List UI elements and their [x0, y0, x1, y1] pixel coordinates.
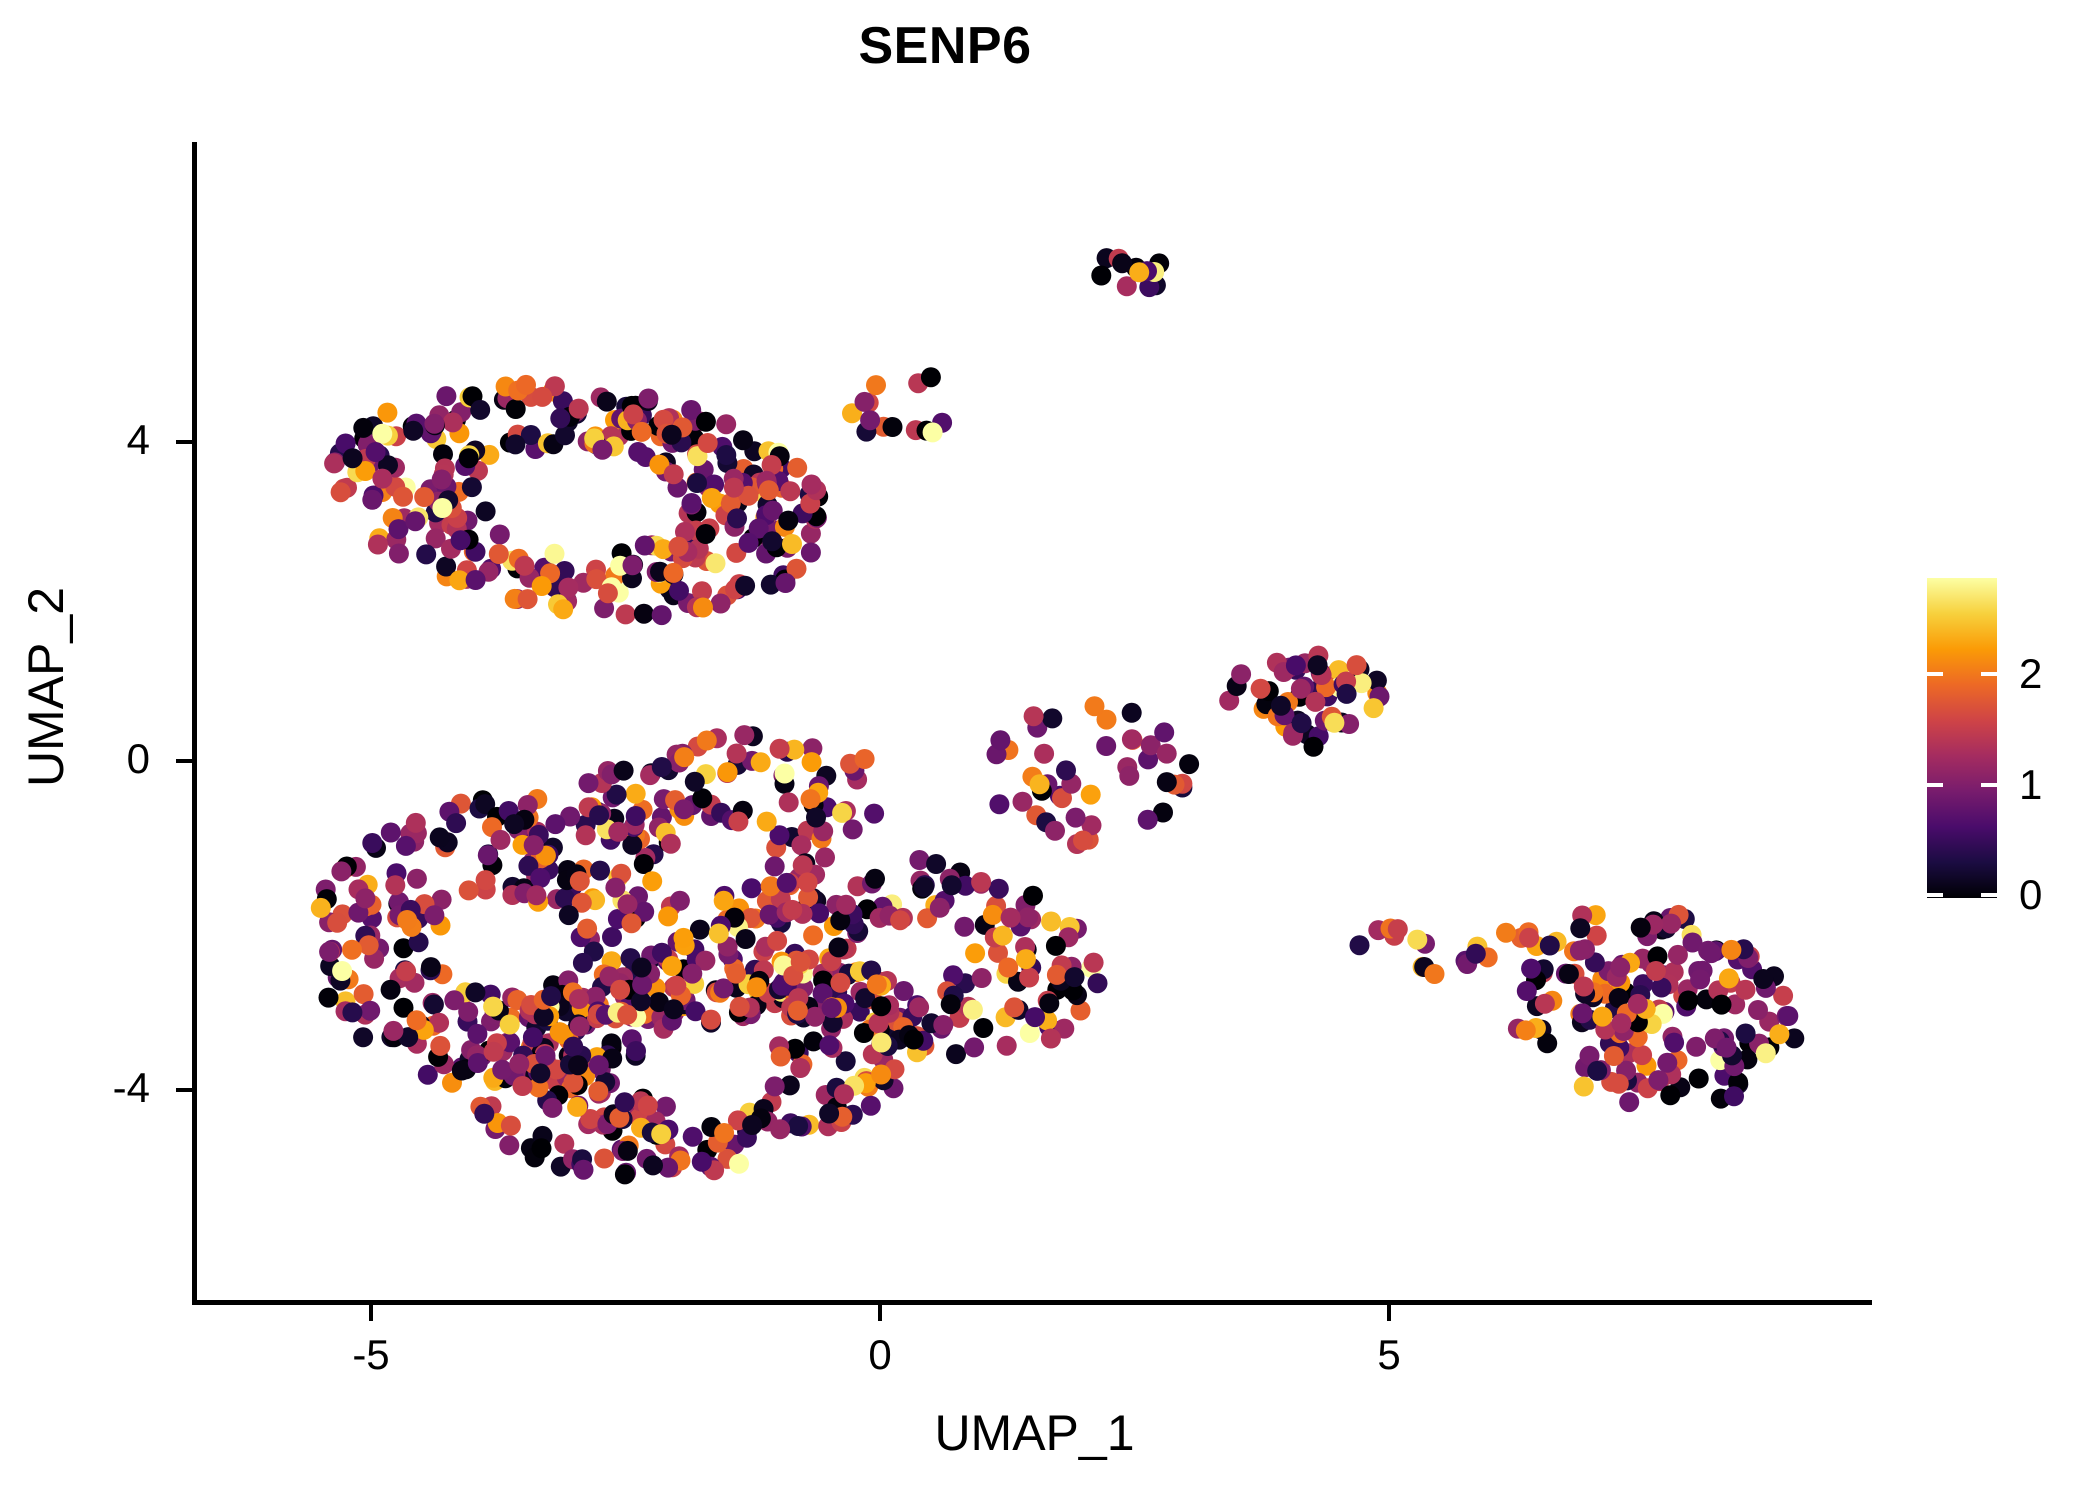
- scatter-points-layer: [197, 142, 1872, 1302]
- scatter-point: [414, 487, 434, 507]
- scatter-point: [767, 931, 787, 951]
- scatter-point: [424, 995, 444, 1015]
- scatter-point: [1091, 266, 1111, 286]
- scatter-point: [997, 1036, 1017, 1056]
- scatter-point: [730, 997, 750, 1017]
- scatter-point: [727, 744, 747, 764]
- scatter-point: [793, 855, 813, 875]
- scatter-point: [964, 1037, 984, 1057]
- scatter-point: [1587, 1061, 1607, 1081]
- scatter-point: [462, 477, 482, 497]
- scatter-point: [697, 731, 717, 751]
- scatter-point: [739, 533, 759, 553]
- scatter-point: [1701, 943, 1721, 963]
- scatter-point: [709, 924, 729, 944]
- colorbar-label-0: 0: [2019, 874, 2042, 916]
- scatter-point: [588, 1081, 608, 1101]
- scatter-point: [626, 806, 646, 826]
- x-tick-label-5: 5: [1309, 1334, 1469, 1376]
- scatter-point: [618, 1141, 638, 1161]
- scatter-point: [965, 943, 985, 963]
- scatter-point: [476, 870, 496, 890]
- scatter-point: [718, 762, 738, 782]
- scatter-point: [1657, 1053, 1677, 1073]
- x-axis-title: UMAP_1: [197, 1408, 1872, 1458]
- scatter-point: [1025, 1007, 1045, 1027]
- scatter-point: [983, 905, 1003, 925]
- scatter-point: [1574, 977, 1594, 997]
- plot-panel: [197, 142, 1872, 1302]
- scatter-point: [942, 875, 962, 895]
- scatter-point: [1570, 941, 1590, 961]
- scatter-point: [855, 749, 875, 769]
- colorbar-label-2: 2: [2019, 653, 2042, 695]
- scatter-point: [451, 530, 471, 550]
- scatter-point: [802, 752, 822, 772]
- scatter-point: [791, 835, 811, 855]
- scatter-point: [1736, 1024, 1756, 1044]
- scatter-point: [1719, 968, 1739, 988]
- scatter-point: [1112, 253, 1132, 273]
- scatter-point: [319, 988, 339, 1008]
- scatter-point: [505, 434, 525, 454]
- scatter-point: [843, 819, 863, 839]
- umap-feature-plot: SENP6 4 0 -4 -5 0 5 UMAP_1 UMAP_2 2 1 0: [0, 0, 2100, 1500]
- scatter-point: [470, 400, 490, 420]
- scatter-point: [1572, 1003, 1592, 1023]
- scatter-point: [775, 764, 795, 784]
- scatter-point: [734, 725, 754, 745]
- scatter-point: [635, 536, 655, 556]
- scatter-point: [788, 1116, 808, 1136]
- scatter-point: [1084, 953, 1104, 973]
- scatter-point: [770, 739, 790, 759]
- scatter-point: [658, 906, 678, 926]
- scatter-point: [383, 1021, 403, 1041]
- scatter-point: [465, 982, 485, 1002]
- scatter-point: [782, 534, 802, 554]
- scatter-point: [871, 1065, 891, 1085]
- scatter-point: [1717, 1038, 1737, 1058]
- scatter-point: [946, 1044, 966, 1064]
- colorbar-gradient: [1927, 578, 1997, 898]
- scatter-point: [1350, 935, 1370, 955]
- scatter-point: [1388, 919, 1408, 939]
- x-tick-label-0: 0: [800, 1334, 960, 1376]
- scatter-point: [1466, 944, 1486, 964]
- scatter-point: [634, 604, 654, 624]
- scatter-point: [998, 958, 1018, 978]
- scatter-point: [1736, 980, 1756, 1000]
- colorbar-label-1: 1: [2019, 764, 2042, 806]
- scatter-point: [696, 524, 716, 544]
- scatter-point: [779, 792, 799, 812]
- scatter-point: [616, 604, 636, 624]
- scatter-point: [716, 414, 736, 434]
- scatter-point: [474, 1104, 494, 1124]
- scatter-point: [829, 937, 849, 957]
- scatter-point: [778, 511, 798, 531]
- scatter-point: [1251, 679, 1271, 699]
- scatter-point: [698, 433, 718, 453]
- scatter-point: [311, 898, 331, 918]
- scatter-point: [867, 974, 887, 994]
- scatter-point: [1013, 792, 1033, 812]
- scatter-point: [615, 1164, 635, 1184]
- scatter-point: [926, 854, 946, 874]
- scatter-point: [1690, 969, 1710, 989]
- scatter-point: [362, 490, 382, 510]
- scatter-point: [368, 535, 388, 555]
- colorbar-tick-1-right: [1981, 783, 1997, 787]
- scatter-point: [524, 835, 544, 855]
- scatter-point: [687, 473, 707, 493]
- scatter-point: [1019, 968, 1039, 988]
- scatter-point: [377, 403, 397, 423]
- scatter-point: [643, 1155, 663, 1175]
- scatter-point: [735, 576, 755, 596]
- scatter-point: [500, 1015, 520, 1035]
- scatter-point: [742, 878, 762, 898]
- scatter-point: [459, 880, 479, 900]
- y-tick-mark-4: [176, 440, 192, 444]
- scatter-point: [623, 404, 643, 424]
- scatter-point: [327, 913, 347, 933]
- scatter-point: [674, 928, 694, 948]
- scatter-point: [509, 1054, 529, 1074]
- scatter-point: [1085, 696, 1105, 716]
- scatter-point: [381, 980, 401, 1000]
- scatter-point: [1748, 1000, 1768, 1020]
- y-axis-line: [192, 142, 197, 1305]
- scatter-point: [362, 833, 382, 853]
- scatter-point: [663, 563, 683, 583]
- scatter-point: [407, 869, 427, 889]
- scatter-point: [972, 968, 992, 988]
- scatter-point: [332, 961, 352, 981]
- scatter-point: [674, 747, 694, 767]
- scatter-point: [355, 888, 375, 908]
- scatter-point: [806, 808, 826, 828]
- scatter-point: [728, 812, 748, 832]
- scatter-point: [353, 1027, 373, 1047]
- scatter-point: [1308, 655, 1328, 675]
- scatter-point: [550, 408, 570, 428]
- scatter-point: [714, 891, 734, 911]
- scatter-point: [530, 868, 550, 888]
- scatter-point: [727, 508, 747, 528]
- scatter-point: [589, 805, 609, 825]
- scatter-point: [1231, 664, 1251, 684]
- scatter-point: [545, 544, 565, 564]
- scatter-point: [501, 1116, 521, 1136]
- scatter-point: [331, 482, 351, 502]
- scatter-point: [776, 573, 796, 593]
- scatter-point: [1407, 930, 1427, 950]
- colorbar-tick-0-right: [1981, 893, 1997, 897]
- scatter-point: [446, 813, 466, 833]
- scatter-point: [476, 501, 496, 521]
- scatter-point: [914, 877, 934, 897]
- scatter-point: [1271, 696, 1291, 716]
- scatter-point: [1592, 1007, 1612, 1027]
- scatter-point: [541, 986, 561, 1006]
- scatter-point: [430, 1036, 450, 1056]
- scatter-point: [421, 957, 441, 977]
- scatter-point: [682, 964, 702, 984]
- scatter-point: [443, 412, 463, 432]
- scatter-point: [714, 1123, 734, 1143]
- scatter-point: [652, 605, 672, 625]
- scatter-point: [626, 784, 646, 804]
- scatter-point: [777, 873, 797, 893]
- x-tick-label-minus5: -5: [291, 1334, 451, 1376]
- scatter-point: [890, 910, 910, 930]
- scatter-point: [701, 1010, 721, 1030]
- scatter-point: [559, 905, 579, 925]
- scatter-point: [771, 1047, 791, 1067]
- scatter-point: [760, 905, 780, 925]
- scatter-point: [1286, 655, 1306, 675]
- scatter-point: [669, 537, 689, 557]
- scatter-point: [499, 1135, 519, 1155]
- y-tick-mark-0: [176, 759, 192, 763]
- scatter-point: [513, 1076, 533, 1096]
- scatter-point: [432, 470, 452, 490]
- scatter-point: [819, 1035, 839, 1055]
- scatter-point: [436, 386, 456, 406]
- scatter-point: [791, 952, 811, 972]
- scatter-point: [1056, 760, 1076, 780]
- scatter-point: [555, 888, 575, 908]
- scatter-point: [1347, 655, 1367, 675]
- scatter-point: [590, 861, 610, 881]
- scatter-point: [1678, 991, 1698, 1011]
- colorbar-tick-1-left: [1927, 783, 1943, 787]
- scatter-point: [819, 1104, 839, 1124]
- scatter-point: [1364, 698, 1384, 718]
- scatter-point: [1034, 744, 1054, 764]
- x-tick-mark-0: [878, 1305, 882, 1321]
- scatter-point: [954, 917, 974, 937]
- scatter-point: [855, 392, 875, 412]
- scatter-point: [576, 825, 596, 845]
- scatter-point: [602, 927, 622, 947]
- scatter-point: [780, 481, 800, 501]
- scatter-point: [569, 399, 589, 419]
- scatter-point: [798, 872, 818, 892]
- scatter-point: [1611, 1013, 1631, 1033]
- scatter-point: [570, 871, 590, 891]
- scatter-point: [869, 1013, 889, 1033]
- scatter-point: [822, 998, 842, 1018]
- scatter-point: [872, 1033, 892, 1053]
- scatter-point: [782, 900, 802, 920]
- scatter-point: [674, 799, 694, 819]
- scatter-point: [1661, 914, 1681, 934]
- scatter-point: [623, 555, 643, 575]
- scatter-point: [1304, 737, 1324, 757]
- scatter-point: [324, 453, 344, 473]
- scatter-point: [1628, 994, 1648, 1014]
- scatter-point: [1045, 821, 1065, 841]
- scatter-point: [483, 997, 503, 1017]
- scatter-point: [608, 822, 628, 842]
- scatter-point: [570, 1016, 590, 1036]
- scatter-point: [1756, 1043, 1776, 1063]
- scatter-point: [662, 425, 682, 445]
- scatter-point: [360, 1001, 380, 1021]
- y-tick-label-minus4: -4: [20, 1067, 150, 1109]
- scatter-point: [765, 1076, 785, 1096]
- scatter-point: [558, 578, 578, 598]
- scatter-point: [615, 1092, 635, 1112]
- colorbar-tick-2-right: [1981, 672, 1997, 676]
- scatter-point: [989, 879, 1009, 899]
- scatter-point: [1065, 967, 1085, 987]
- scatter-point: [610, 980, 630, 1000]
- scatter-point: [1646, 961, 1666, 981]
- scatter-point: [757, 812, 777, 832]
- scatter-point: [736, 929, 756, 949]
- scatter-point: [622, 913, 642, 933]
- scatter-point: [1016, 949, 1036, 969]
- scatter-point: [618, 894, 638, 914]
- scatter-point: [405, 511, 425, 531]
- scatter-point: [921, 367, 941, 387]
- scatter-point: [1004, 997, 1024, 1017]
- scatter-point: [759, 480, 779, 500]
- scatter-point: [574, 1160, 594, 1180]
- scatter-point: [1179, 754, 1199, 774]
- scatter-point: [685, 772, 705, 792]
- scatter-point: [1157, 772, 1177, 792]
- scatter-point: [836, 895, 856, 915]
- scatter-point: [491, 830, 511, 850]
- scatter-point: [815, 847, 835, 867]
- scatter-point: [1129, 262, 1149, 282]
- scatter-point: [652, 757, 672, 777]
- y-axis-title: UMAP_2: [21, 377, 71, 997]
- scatter-point: [1046, 936, 1066, 956]
- scatter-point: [693, 598, 713, 618]
- scatter-point: [467, 1024, 487, 1044]
- scatter-point: [389, 544, 409, 564]
- scatter-point: [466, 570, 486, 590]
- scatter-point: [626, 1041, 646, 1061]
- scatter-point: [1610, 957, 1630, 977]
- scatter-point: [666, 976, 686, 996]
- scatter-point: [1154, 722, 1174, 742]
- scatter-point: [577, 919, 597, 939]
- scatter-point: [941, 994, 961, 1014]
- scatter-point: [343, 448, 363, 468]
- scatter-point: [729, 1154, 749, 1174]
- scatter-point: [1773, 986, 1793, 1006]
- page-title: SENP6: [0, 20, 1890, 72]
- scatter-point: [990, 730, 1010, 750]
- scatter-point: [834, 1084, 854, 1104]
- scatter-point: [864, 804, 884, 824]
- scatter-point: [589, 1055, 609, 1075]
- scatter-point: [432, 498, 452, 518]
- scatter-point: [662, 956, 682, 976]
- scatter-point: [1778, 1006, 1798, 1026]
- scatter-point: [542, 1098, 562, 1118]
- scatter-point: [506, 399, 526, 419]
- x-axis-line: [192, 1300, 1872, 1305]
- scatter-point: [866, 375, 886, 395]
- scatter-point: [883, 417, 903, 437]
- scatter-point: [1088, 973, 1108, 993]
- scatter-point: [871, 996, 891, 1016]
- scatter-point: [319, 942, 339, 962]
- scatter-point: [683, 1127, 703, 1147]
- scatter-point: [669, 581, 689, 601]
- scatter-point: [933, 1015, 953, 1035]
- scatter-point: [598, 583, 618, 603]
- scatter-point: [724, 478, 744, 498]
- scatter-point: [930, 898, 950, 918]
- scatter-point: [416, 544, 436, 564]
- scatter-point: [909, 997, 929, 1017]
- scatter-point: [1540, 936, 1560, 956]
- scatter-point: [579, 773, 599, 793]
- scatter-point: [1018, 907, 1038, 927]
- scatter-point: [553, 599, 573, 619]
- scatter-point: [526, 885, 546, 905]
- scatter-point: [407, 1010, 427, 1030]
- scatter-point: [1337, 684, 1357, 704]
- scatter-point: [742, 1115, 762, 1135]
- scatter-point: [424, 414, 444, 434]
- scatter-point: [1664, 1033, 1684, 1053]
- scatter-point: [762, 531, 782, 551]
- scatter-point: [1305, 692, 1325, 712]
- scatter-point: [628, 442, 648, 462]
- scatter-point: [751, 752, 771, 772]
- scatter-point: [1724, 1086, 1744, 1106]
- scatter-point: [642, 871, 662, 891]
- scatter-point: [545, 814, 565, 834]
- scatter-point: [1138, 810, 1158, 830]
- scatter-point: [489, 544, 509, 564]
- scatter-point: [406, 813, 426, 833]
- scatter-point: [1712, 995, 1732, 1015]
- scatter-point: [490, 525, 510, 545]
- scatter-point: [632, 422, 652, 442]
- scatter-point: [726, 964, 746, 984]
- scatter-point: [909, 850, 929, 870]
- y-tick-mark-minus4: [176, 1088, 192, 1092]
- scatter-point: [569, 989, 589, 1009]
- scatter-point: [1292, 713, 1312, 733]
- scatter-point: [331, 861, 351, 881]
- scatter-point: [396, 961, 416, 981]
- scatter-point: [733, 430, 753, 450]
- scatter-point: [1122, 703, 1142, 723]
- scatter-point: [393, 487, 413, 507]
- scatter-point: [342, 940, 362, 960]
- scatter-point: [1604, 1046, 1624, 1066]
- scatter-point: [716, 445, 736, 465]
- scatter-point: [592, 440, 612, 460]
- scatter-point: [971, 872, 991, 892]
- scatter-point: [353, 418, 373, 438]
- scatter-point: [1096, 736, 1116, 756]
- scatter-point: [617, 1005, 637, 1025]
- scatter-point: [430, 827, 450, 847]
